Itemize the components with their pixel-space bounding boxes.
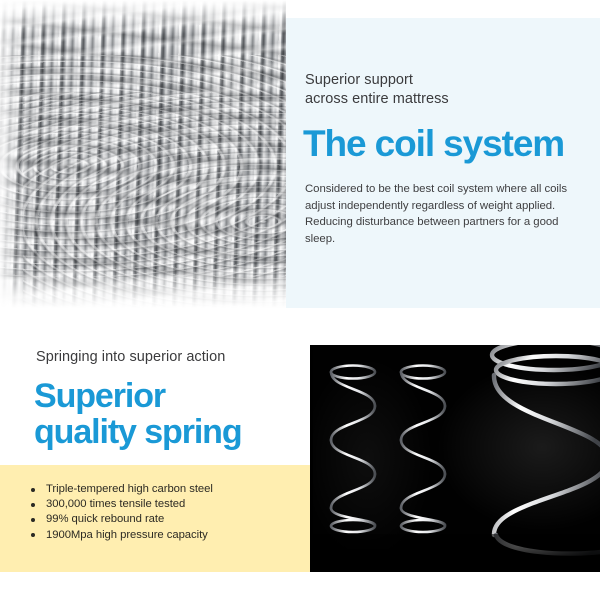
bullet-dot-icon: [31, 488, 35, 492]
feature-item: Triple-tempered high carbon steel: [30, 482, 213, 497]
bottom-right-spring-photo: [310, 345, 600, 572]
small-spring-left-icon: [324, 359, 382, 539]
spring-features-panel: Triple-tempered high carbon steel300,000…: [0, 465, 310, 572]
bullet-dot-icon: [31, 533, 35, 537]
coil-system-description: Considered to be the best coil system wh…: [305, 181, 581, 247]
feature-item-label: 99% quick rebound rate: [46, 513, 164, 525]
bullet-dot-icon: [31, 518, 35, 522]
feature-item: 1900Mpa high pressure capacity: [30, 528, 213, 543]
feature-item-label: Triple-tempered high carbon steel: [46, 483, 213, 495]
feature-item-label: 1900Mpa high pressure capacity: [46, 529, 208, 541]
spring-features-list: Triple-tempered high carbon steel300,000…: [30, 482, 213, 543]
feature-item-label: 300,000 times tensile tested: [46, 498, 185, 510]
spring-quality-subtitle: Springing into superior action: [36, 348, 296, 367]
photo-left-fade: [0, 0, 22, 308]
spring-quality-headline: Superior quality spring: [34, 378, 304, 450]
coil-system-panel: Superior support across entire mattress …: [286, 18, 600, 308]
photo-left-edge: [310, 345, 313, 572]
coil-system-subtitle: Superior support across entire mattress: [305, 71, 585, 109]
photo-wave-overlay-secondary: [0, 0, 286, 308]
feature-item: 99% quick rebound rate: [30, 512, 213, 527]
photo-top-fade: [0, 0, 286, 34]
bullet-dot-icon: [31, 503, 35, 507]
coil-system-headline: The coil system: [303, 123, 593, 164]
photo-reflection-fade: [310, 534, 600, 572]
small-spring-right-icon: [394, 359, 452, 539]
feature-item: 300,000 times tensile tested: [30, 497, 213, 512]
infographic-page: Superior support across entire mattress …: [0, 0, 600, 600]
photo-bottom-fade: [0, 268, 286, 308]
large-spring-icon: [458, 345, 600, 559]
top-left-spring-photo: [0, 0, 286, 308]
